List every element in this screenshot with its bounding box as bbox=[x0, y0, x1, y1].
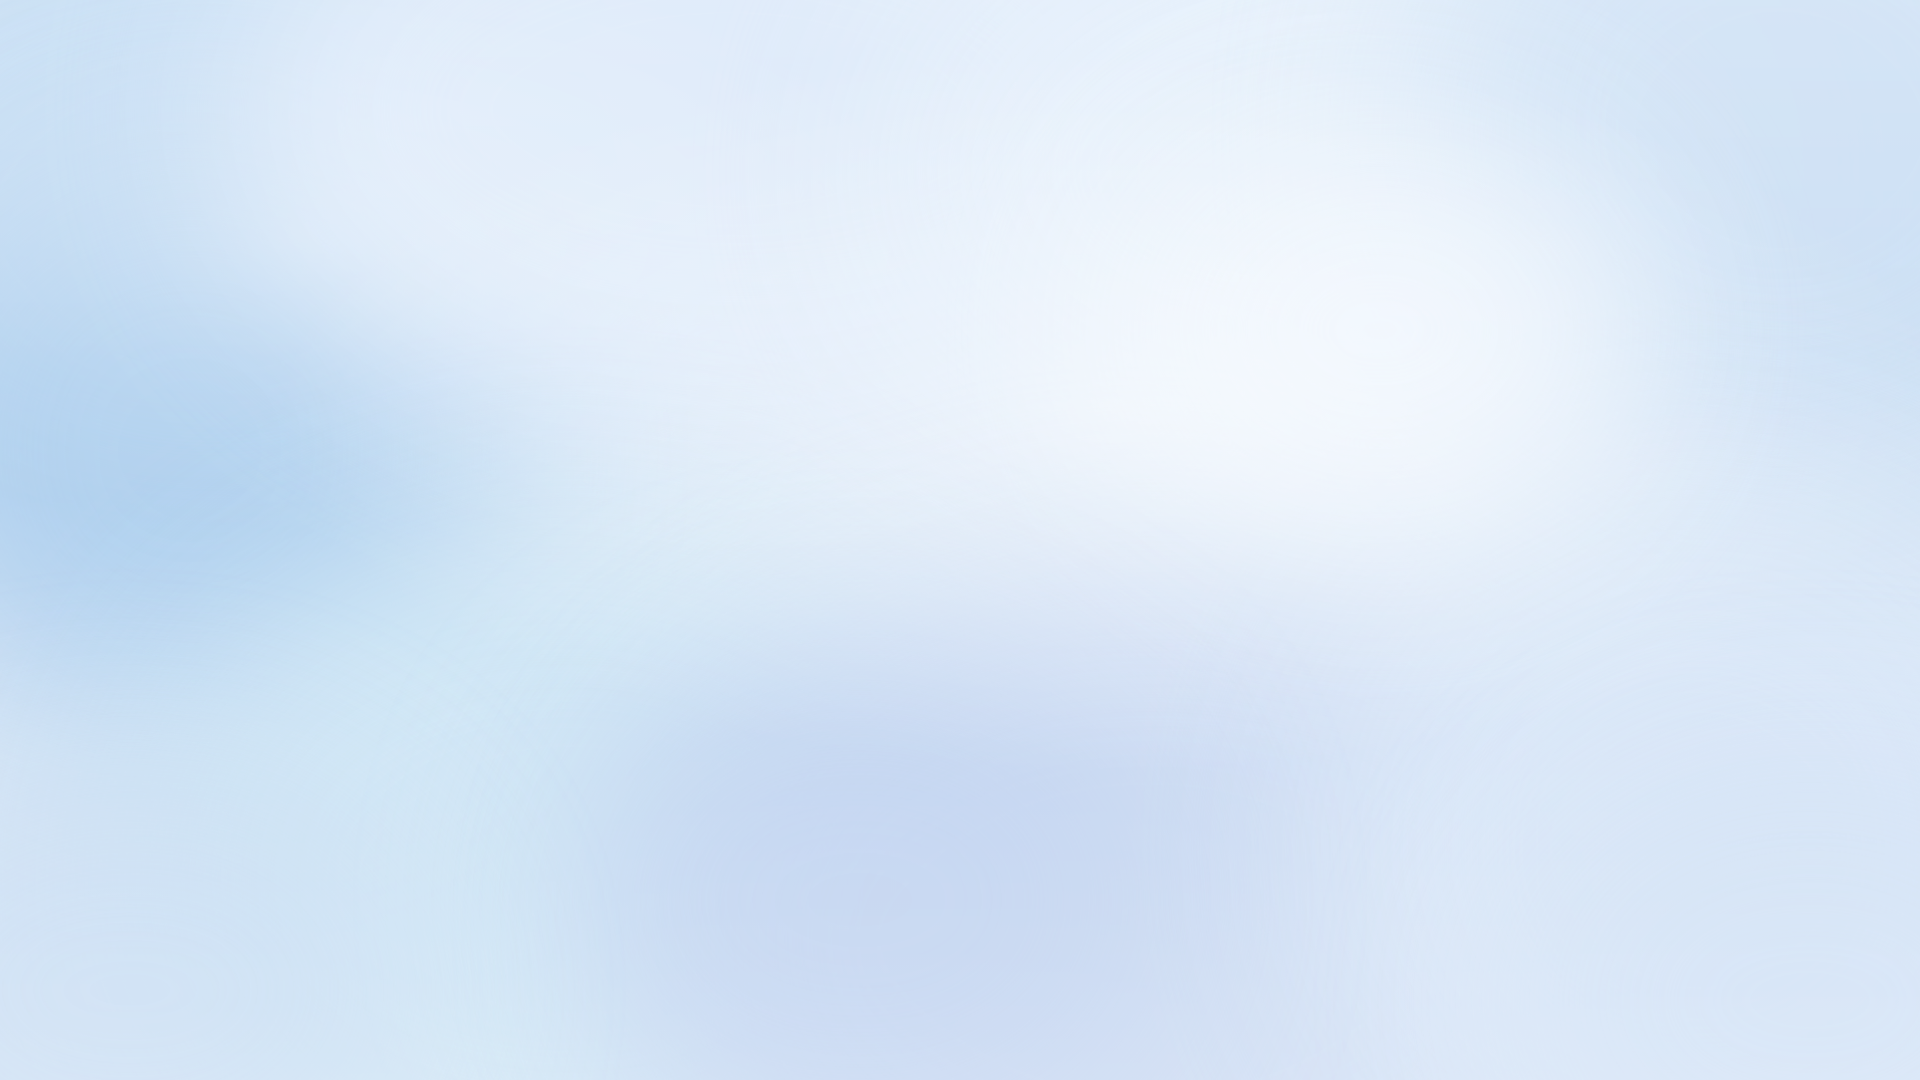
slide-canvas bbox=[0, 0, 1920, 1080]
background-gradient bbox=[0, 0, 1920, 1080]
process-arrow-band bbox=[72, 370, 1848, 460]
